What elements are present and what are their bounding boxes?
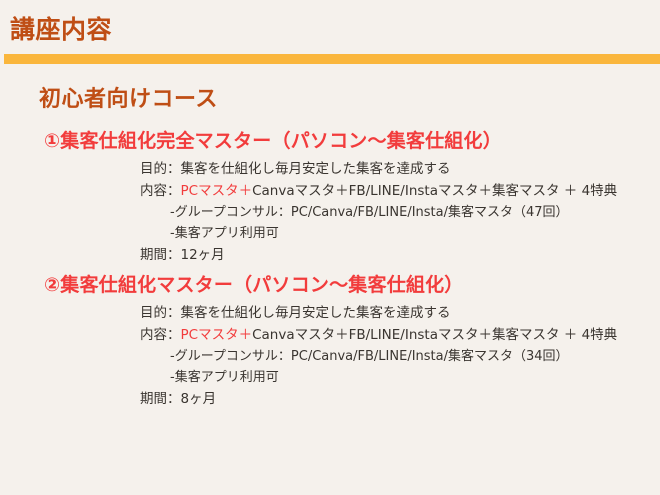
- course-2-period-value: 8ヶ月: [181, 391, 217, 407]
- page-title: 講座内容: [10, 16, 112, 45]
- course-1-purpose-label: 目的：: [140, 161, 181, 177]
- course-1-purpose-row: 目的：集客を仕組化し毎月安定した集客を達成する: [0, 159, 660, 180]
- course-1-content-highlight: PCマスタ＋: [181, 183, 253, 199]
- course-1-content-value: Canvaマスタ＋FB/LINE/Instaマスタ＋集客マスタ ＋ 4特典: [252, 183, 617, 199]
- course-1-period-value: 12ヶ月: [181, 247, 225, 263]
- course-2-period-row: 期間：8ヶ月: [0, 389, 660, 410]
- course-block-1: ①集客仕組化完全マスター（パソコン〜集客仕組化） 目的：集客を仕組化し毎月安定し…: [0, 126, 660, 267]
- course-1-sub-item-1: -グループコンサル：PC/Canva/FB/LINE/Insta/集客マスタ（4…: [0, 203, 660, 223]
- course-2-sub-item-1: -グループコンサル：PC/Canva/FB/LINE/Insta/集客マスタ（3…: [0, 347, 660, 367]
- course-1-content-label: 内容：: [140, 183, 181, 199]
- title-underline-bar: [4, 54, 660, 64]
- course-1-period-row: 期間：12ヶ月: [0, 245, 660, 266]
- course-2-period-label: 期間：: [140, 391, 181, 407]
- course-heading-1: ①集客仕組化完全マスター（パソコン〜集客仕組化）: [44, 126, 660, 153]
- course-1-content-row: 内容：PCマスタ＋Canvaマスタ＋FB/LINE/Instaマスタ＋集客マスタ…: [0, 181, 660, 202]
- course-2-purpose-value: 集客を仕組化し毎月安定した集客を達成する: [181, 305, 451, 321]
- course-2-content-row: 内容：PCマスタ＋Canvaマスタ＋FB/LINE/Instaマスタ＋集客マスタ…: [0, 325, 660, 346]
- slide-root: 講座内容 初心者向けコース ①集客仕組化完全マスター（パソコン〜集客仕組化） 目…: [0, 0, 660, 495]
- course-2-sub-item-2: -集客アプリ利用可: [0, 368, 660, 388]
- course-1-purpose-value: 集客を仕組化し毎月安定した集客を達成する: [181, 161, 451, 177]
- course-2-content-highlight: PCマスタ＋: [181, 327, 253, 343]
- course-1-sub-item-2: -集客アプリ利用可: [0, 224, 660, 244]
- course-heading-2: ②集客仕組化マスター（パソコン〜集客仕組化）: [44, 270, 660, 297]
- course-1-period-label: 期間：: [140, 247, 181, 263]
- course-2-purpose-row: 目的：集客を仕組化し毎月安定した集客を達成する: [0, 303, 660, 324]
- course-block-2: ②集客仕組化マスター（パソコン〜集客仕組化） 目的：集客を仕組化し毎月安定した集…: [0, 270, 660, 411]
- course-2-content-label: 内容：: [140, 327, 181, 343]
- course-2-purpose-label: 目的：: [140, 305, 181, 321]
- section-title: 初心者向けコース: [39, 81, 218, 113]
- course-2-content-value: Canvaマスタ＋FB/LINE/Instaマスタ＋集客マスタ ＋ 4特典: [252, 327, 617, 343]
